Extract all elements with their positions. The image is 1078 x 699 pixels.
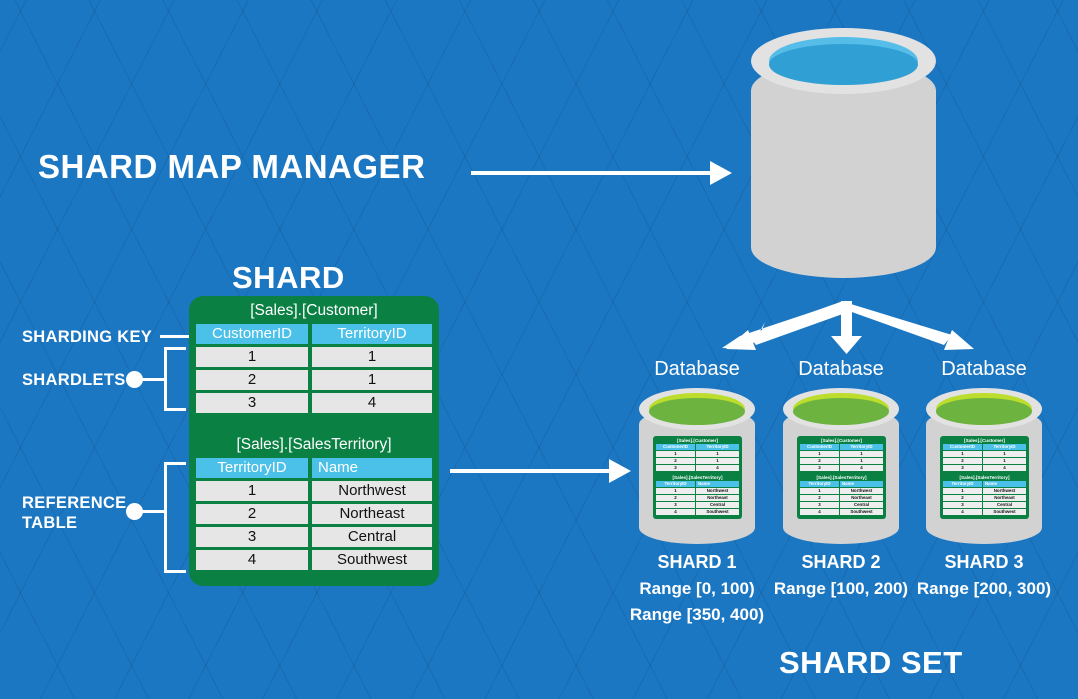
table-cell: 4 xyxy=(656,509,695,515)
cylinder-fill-dark xyxy=(649,398,745,425)
table-row: 2 Northeast xyxy=(656,495,739,501)
table-row: 3 Central xyxy=(196,527,432,547)
mini-customer-table: CustomerID TerritoryID 1 1 2 1 3 4 xyxy=(943,444,1026,471)
shard-name-2: SHARD 2 xyxy=(781,552,901,573)
cylinder-fill-dark xyxy=(936,398,1032,425)
table-row: 4 Southwest xyxy=(943,509,1026,515)
arrow-shaft xyxy=(450,469,613,473)
annotation-connector-shardlets xyxy=(140,378,167,381)
arrow-shaft xyxy=(471,171,714,175)
database-caption: Database xyxy=(637,358,757,381)
mini-customer-table: CustomerID TerritoryID 1 1 2 1 3 4 xyxy=(656,444,739,471)
table-cell: 2 xyxy=(196,504,308,524)
table-cell: Northeast xyxy=(312,504,432,524)
table-row: 3 4 xyxy=(800,465,883,471)
table-cell: Northwest xyxy=(983,488,1026,494)
shard-name-1: SHARD 1 xyxy=(637,552,757,573)
table-row: 1 Northwest xyxy=(196,481,432,501)
mini-shard-card: [Sales].[Customer] CustomerID TerritoryI… xyxy=(797,436,886,519)
table-cell: 4 xyxy=(696,465,739,471)
table-row: 2 1 xyxy=(800,458,883,464)
table-cell: 2 xyxy=(943,495,982,501)
customer-table-title: [Sales].[Customer] xyxy=(189,302,439,320)
table-row: 3 Central xyxy=(943,502,1026,508)
shard-card: [Sales].[Customer] CustomerID TerritoryI… xyxy=(189,296,439,586)
shard-cylinder-3: [Sales].[Customer] CustomerID TerritoryI… xyxy=(926,388,1042,548)
table-cell: 2 xyxy=(800,458,839,464)
bracket-icon xyxy=(164,347,186,411)
bracket-icon xyxy=(164,462,186,573)
table-cell: 1 xyxy=(312,370,432,390)
table-cell: 3 xyxy=(196,393,308,413)
table-row: 4 Southwest xyxy=(656,509,739,515)
column-header: TerritoryID xyxy=(656,481,695,487)
table-cell: 4 xyxy=(312,393,432,413)
column-header: TerritoryID xyxy=(983,444,1026,450)
table-cell: Central xyxy=(840,502,883,508)
column-header: TerritoryID xyxy=(943,481,982,487)
table-row: 3 Central xyxy=(656,502,739,508)
section-title-shard-set: SHARD SET xyxy=(779,645,963,681)
column-header: Name xyxy=(696,481,739,487)
column-header: TerritoryID xyxy=(196,458,308,478)
arrow-right-icon xyxy=(609,459,631,483)
table-cell: 1 xyxy=(983,458,1026,464)
annotation-label-reference-table: REFERENCE TABLE xyxy=(22,493,126,533)
table-row: 1 1 xyxy=(196,347,432,367)
table-cell: Northeast xyxy=(696,495,739,501)
table-header-row: TerritoryID Name xyxy=(196,458,432,478)
page-title-shard-map-manager: SHARD MAP MANAGER xyxy=(38,148,425,186)
table-cell: Central xyxy=(696,502,739,508)
shard-range-1: Range [0, 100) xyxy=(617,579,777,599)
table-cell: Central xyxy=(983,502,1026,508)
table-row: 1 1 xyxy=(656,451,739,457)
annotation-label-shardlets: SHARDLETS xyxy=(22,370,126,390)
territory-table: TerritoryID Name 1 Northwest 2 Northeast… xyxy=(196,458,432,570)
table-cell: 2 xyxy=(943,458,982,464)
table-cell: 1 xyxy=(656,451,695,457)
arrow-shard-to-shard-set xyxy=(450,458,635,484)
mini-customer-table: CustomerID TerritoryID 1 1 2 1 3 4 xyxy=(800,444,883,471)
table-cell: 1 xyxy=(656,488,695,494)
shard-range-1-extra: Range [350, 400) xyxy=(617,605,777,625)
table-row: 2 1 xyxy=(943,458,1026,464)
table-header-row: TerritoryID Name xyxy=(656,481,739,487)
table-cell: Northwest xyxy=(840,488,883,494)
table-row: 3 Central xyxy=(800,502,883,508)
table-cell: Northwest xyxy=(312,481,432,501)
table-header-row: CustomerID TerritoryID xyxy=(943,444,1026,450)
table-cell: 2 xyxy=(800,495,839,501)
table-cell: Central xyxy=(312,527,432,547)
table-cell: 4 xyxy=(840,465,883,471)
table-cell: 3 xyxy=(943,502,982,508)
database-cylinder-icon xyxy=(751,28,936,293)
cylinder-fill-dark xyxy=(793,398,889,425)
column-header: CustomerID xyxy=(656,444,695,450)
cylinder-fill-dark xyxy=(769,44,918,85)
table-header-row: CustomerID TerritoryID xyxy=(800,444,883,450)
table-cell: 1 xyxy=(800,451,839,457)
column-header: CustomerID xyxy=(196,324,308,344)
table-row: 3 4 xyxy=(943,465,1026,471)
table-row: 1 1 xyxy=(800,451,883,457)
territory-table-title: [Sales].[SalesTerritory] xyxy=(189,436,439,454)
table-cell: 1 xyxy=(196,347,308,367)
column-header: Name xyxy=(840,481,883,487)
table-cell: 4 xyxy=(196,550,308,570)
shard-range-2: Range [100, 200) xyxy=(761,579,921,599)
arrow-right-icon xyxy=(710,161,732,185)
column-header: Name xyxy=(312,458,432,478)
annotation-label-sharding-key: SHARDING KEY xyxy=(22,327,152,347)
table-cell: 3 xyxy=(943,465,982,471)
column-header: CustomerID xyxy=(943,444,982,450)
column-header: Name xyxy=(983,481,1026,487)
table-row: 1 Northwest xyxy=(943,488,1026,494)
mini-shard-card: [Sales].[Customer] CustomerID TerritoryI… xyxy=(940,436,1029,519)
table-cell: Southwest xyxy=(840,509,883,515)
table-cell: 3 xyxy=(800,465,839,471)
table-row: 2 Northeast xyxy=(196,504,432,524)
column-header: TerritoryID xyxy=(312,324,432,344)
table-cell: 3 xyxy=(656,465,695,471)
table-row: 4 Southwest xyxy=(800,509,883,515)
table-row: 1 1 xyxy=(943,451,1026,457)
diagram-canvas: SHARD MAP MANAGER SHARD SHARD SET xyxy=(0,0,1078,699)
table-header-row: CustomerID TerritoryID xyxy=(196,324,432,344)
table-cell: 2 xyxy=(656,458,695,464)
table-cell: 3 xyxy=(800,502,839,508)
table-cell: Northeast xyxy=(840,495,883,501)
shard-range-3: Range [200, 300) xyxy=(904,579,1064,599)
database-caption: Database xyxy=(924,358,1044,381)
customer-table: CustomerID TerritoryID 1 1 2 1 3 4 xyxy=(196,324,432,413)
table-cell: 1 xyxy=(943,488,982,494)
table-cell: 1 xyxy=(800,488,839,494)
table-cell: Southwest xyxy=(312,550,432,570)
table-cell: 1 xyxy=(943,451,982,457)
table-cell: 4 xyxy=(800,509,839,515)
table-cell: Northeast xyxy=(983,495,1026,501)
table-cell: 4 xyxy=(983,465,1026,471)
table-cell: 1 xyxy=(840,458,883,464)
annotation-connector-reference-table xyxy=(140,510,167,513)
table-cell: Northwest xyxy=(696,488,739,494)
table-cell: 2 xyxy=(196,370,308,390)
table-row: 3 4 xyxy=(196,393,432,413)
table-cell: 1 xyxy=(840,451,883,457)
table-header-row: TerritoryID Name xyxy=(943,481,1026,487)
table-cell: 1 xyxy=(312,347,432,367)
column-header: CustomerID xyxy=(800,444,839,450)
table-row: 2 Northeast xyxy=(800,495,883,501)
table-cell: 2 xyxy=(656,495,695,501)
table-cell: 3 xyxy=(196,527,308,547)
column-header: TerritoryID xyxy=(800,481,839,487)
table-header-row: TerritoryID Name xyxy=(800,481,883,487)
table-cell: Southwest xyxy=(696,509,739,515)
table-cell: 1 xyxy=(696,458,739,464)
arrow-fan-out-icon xyxy=(700,300,990,355)
mini-territory-table: TerritoryID Name 1 Northwest 2 Northeast… xyxy=(943,481,1026,515)
mini-shard-card: [Sales].[Customer] CustomerID TerritoryI… xyxy=(653,436,742,519)
table-cell: 3 xyxy=(656,502,695,508)
shard-cylinder-1: [Sales].[Customer] CustomerID TerritoryI… xyxy=(639,388,755,548)
table-row: 2 1 xyxy=(656,458,739,464)
table-row: 2 Northeast xyxy=(943,495,1026,501)
table-cell: 1 xyxy=(196,481,308,501)
table-cell: 4 xyxy=(943,509,982,515)
mini-territory-table: TerritoryID Name 1 Northwest 2 Northeast… xyxy=(800,481,883,515)
table-row: 4 Southwest xyxy=(196,550,432,570)
table-cell: Southwest xyxy=(983,509,1026,515)
arrow-shard-map-manager-to-database xyxy=(471,160,736,186)
table-row: 3 4 xyxy=(656,465,739,471)
column-header: TerritoryID xyxy=(696,444,739,450)
table-cell: 1 xyxy=(696,451,739,457)
database-caption: Database xyxy=(781,358,901,381)
shard-cylinder-2: [Sales].[Customer] CustomerID TerritoryI… xyxy=(783,388,899,548)
table-header-row: CustomerID TerritoryID xyxy=(656,444,739,450)
table-cell: 1 xyxy=(983,451,1026,457)
shard-name-3: SHARD 3 xyxy=(924,552,1044,573)
table-row: 1 Northwest xyxy=(800,488,883,494)
section-title-shard: SHARD xyxy=(232,260,345,296)
column-header: TerritoryID xyxy=(840,444,883,450)
mini-territory-table: TerritoryID Name 1 Northwest 2 Northeast… xyxy=(656,481,739,515)
table-row: 1 Northwest xyxy=(656,488,739,494)
table-row: 2 1 xyxy=(196,370,432,390)
